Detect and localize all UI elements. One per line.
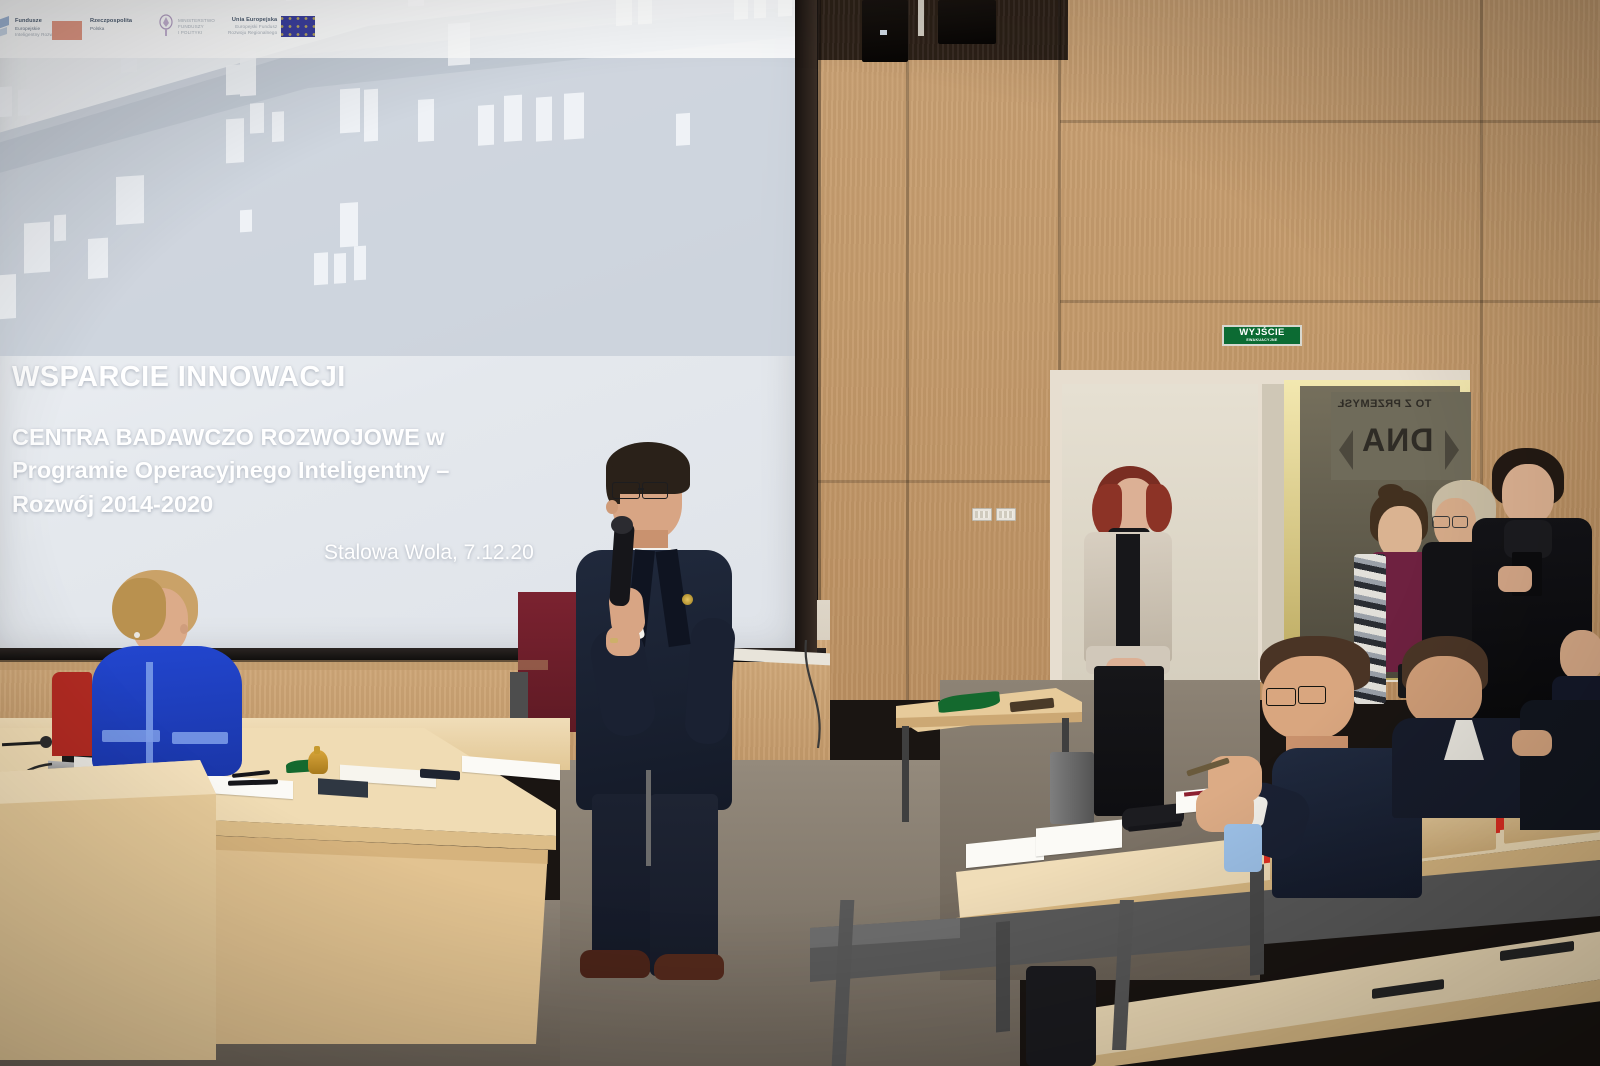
jacket-placket xyxy=(146,662,153,772)
seated-woman-at-head-table xyxy=(88,570,248,770)
screen-frame-edge xyxy=(795,0,817,662)
black-trousers xyxy=(1094,666,1164,816)
glasses xyxy=(1452,516,1468,528)
podium xyxy=(0,760,244,1066)
dark-clothing xyxy=(1520,700,1600,830)
arrow-icon xyxy=(1339,428,1459,472)
far-right-seated-fragment xyxy=(1520,700,1600,830)
polish-eagle-icon xyxy=(158,14,174,40)
hair-side xyxy=(112,578,166,640)
panel-seam-h xyxy=(818,480,1068,483)
slide-title: WSPARCIE INNOWACJI xyxy=(12,361,346,394)
wall-cable xyxy=(800,640,860,750)
blue-jacket xyxy=(92,646,242,776)
power-outlet[interactable] xyxy=(972,508,992,521)
unia-europejska-logo: Unia Europejska Europejski Fundusz Rozwo… xyxy=(228,16,315,37)
slide-subtitle: CENTRA BADAWCZO ROZWOJOWE w Programie Op… xyxy=(12,421,572,521)
black-top xyxy=(1116,534,1140,658)
exit-sign: WYJŚCIE EWAKUACYJNE xyxy=(1222,325,1302,346)
hand xyxy=(1512,730,1552,756)
glasses xyxy=(1432,516,1450,528)
loudspeaker-icon xyxy=(938,0,996,44)
speaker-bracket xyxy=(918,0,924,36)
arm-right xyxy=(684,617,737,746)
eu-flag-icon xyxy=(281,16,315,37)
reflected-sign: TO Z PRZEMYSŁ DNA xyxy=(1331,392,1471,480)
earring xyxy=(134,632,140,638)
jacket-pocket xyxy=(102,730,160,742)
glasses-bridge xyxy=(638,488,644,490)
panel-seam-h xyxy=(1060,120,1600,123)
rzeczpospolita-polska-logo: RzeczpospolitaPolska xyxy=(90,18,132,32)
table-back-rail xyxy=(0,660,548,670)
ring xyxy=(610,638,618,643)
panel-seam xyxy=(906,0,909,700)
bell-handle xyxy=(314,746,320,754)
tablet-device[interactable] xyxy=(318,778,368,797)
hair-bun xyxy=(1378,484,1404,502)
shoe-right xyxy=(654,954,724,980)
standing-woman-by-doorway xyxy=(1072,466,1182,816)
ear xyxy=(606,500,618,514)
power-outlet[interactable] xyxy=(996,508,1016,521)
chair-back[interactable] xyxy=(52,672,92,756)
head xyxy=(1560,630,1600,680)
head xyxy=(1502,464,1554,524)
shirt-sleeve xyxy=(1224,824,1262,872)
desk-microphone[interactable] xyxy=(40,736,52,748)
slide-logo-bar: Fundusze Europejskie Inteligentny Rozwój… xyxy=(0,0,800,58)
second-seated-man xyxy=(1392,636,1532,796)
ministerstwo-logo: MINISTERSTWO FUNDUSZY I POLITYKI xyxy=(158,14,215,40)
glasses xyxy=(642,482,668,499)
head xyxy=(1378,506,1422,558)
hand xyxy=(1498,566,1532,592)
fundusze-europejskie-logo: Fundusze Europejskie Inteligentny Rozwój xyxy=(0,16,57,40)
slide-place-date: Stalowa Wola, 7.12.20 xyxy=(324,541,534,565)
seated-man-in-audience xyxy=(1190,636,1420,886)
glasses xyxy=(612,482,640,499)
head xyxy=(1406,656,1482,726)
shoe-left xyxy=(580,950,650,978)
microphone-head xyxy=(611,516,633,534)
panel-seam xyxy=(818,0,821,700)
bag-on-floor xyxy=(1026,966,1096,1066)
chair-leg xyxy=(646,770,651,866)
polish-flag-bar xyxy=(52,21,82,40)
panel-seam-h xyxy=(1060,300,1600,303)
jacket-pocket xyxy=(172,732,228,744)
speaker-with-microphone xyxy=(570,438,740,998)
nose xyxy=(180,624,188,634)
loudspeaker-icon xyxy=(862,0,908,62)
leg-left xyxy=(592,794,654,972)
glasses xyxy=(1266,688,1296,706)
lecture-hall-photo: Fundusze Europejskie Inteligentny Rozwój… xyxy=(0,0,1600,1066)
lapel-pin xyxy=(682,594,693,605)
fe-mark-icon xyxy=(0,16,11,40)
leg-right xyxy=(650,794,718,976)
hair-side xyxy=(1146,484,1172,532)
glasses xyxy=(1298,686,1326,704)
